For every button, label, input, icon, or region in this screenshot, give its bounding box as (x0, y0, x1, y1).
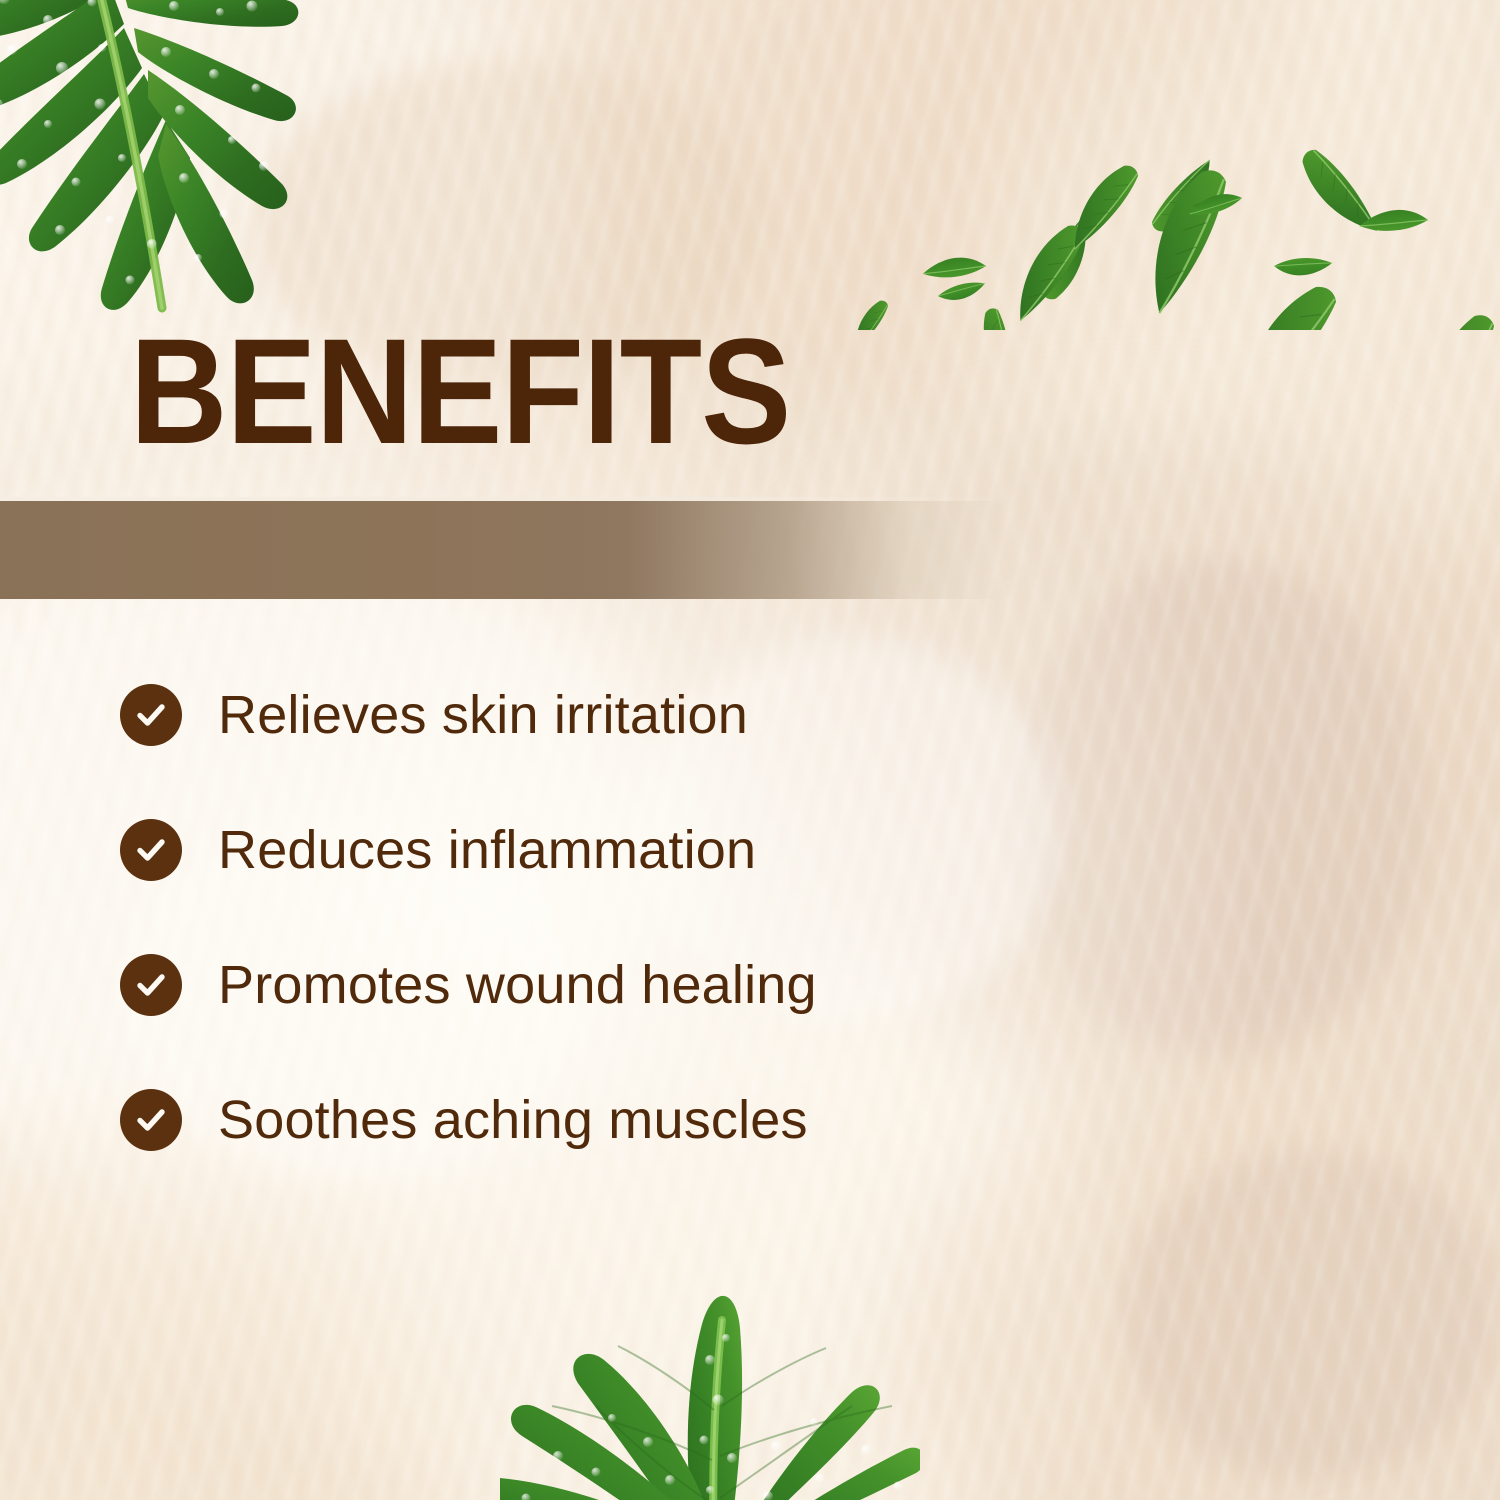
divider-bar (0, 501, 1010, 599)
mint-leaves-icon (830, 70, 1500, 330)
benefit-label: Promotes wound healing (218, 950, 817, 1020)
benefit-label: Reduces inflammation (218, 815, 756, 885)
check-circle-icon (120, 819, 182, 881)
benefit-label: Soothes aching muscles (218, 1085, 808, 1155)
check-circle-icon (120, 954, 182, 1016)
check-circle-icon (120, 1089, 182, 1151)
page-title: BENEFITS (130, 316, 790, 466)
check-circle-icon (120, 684, 182, 746)
benefits-graphic: BENEFITS Relieves skin irritation Reduce… (0, 0, 1500, 1500)
monstera-leaf-icon (500, 1290, 920, 1500)
benefit-label: Relieves skin irritation (218, 680, 748, 750)
monstera-leaf-icon (0, 0, 332, 318)
